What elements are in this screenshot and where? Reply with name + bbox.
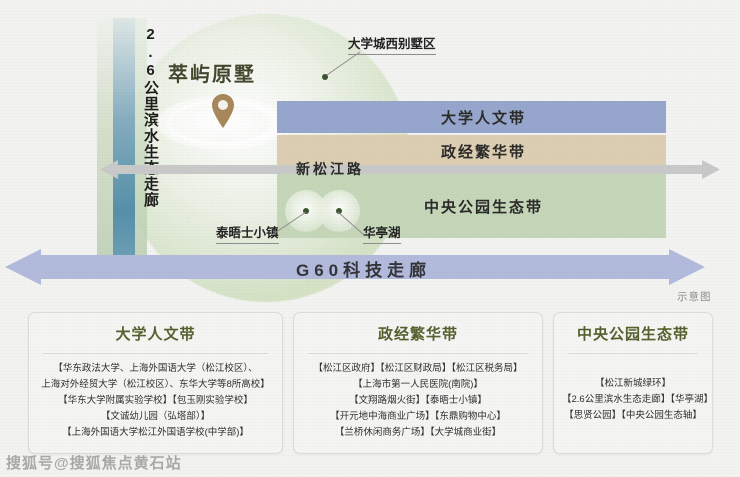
- card-university-culture-belt[interactable]: 大学人文带 【华东政法大学、上海外国语大学（松江校区）、 上海对外经贸大学（松江…: [28, 312, 283, 454]
- project-name-label: 萃屿原墅: [168, 58, 256, 87]
- card-line: 【华东大学附属实验学校】【包玉刚实验学校】: [37, 393, 274, 409]
- corridor-strip-water: [113, 18, 135, 276]
- callout-villa-dot: [322, 74, 328, 80]
- card-line: 【开元地中海商业广场】【东鼎购物中心】: [302, 409, 534, 425]
- band-university-culture: 大学人文带: [277, 101, 666, 133]
- card-line: 【华东政法大学、上海外国语大学（松江校区）、: [37, 361, 274, 377]
- card-line: 上海对外经贸大学（松江校区）、东华大学等8所高校】: [37, 377, 274, 393]
- card-body: 【华东政法大学、上海外国语大学（松江校区）、 上海对外经贸大学（松江校区）、东华…: [29, 354, 282, 441]
- card-line: 【上海外国语大学松江外国语学校(中学部)】: [37, 425, 274, 441]
- page-root: 2.6公里滨水生态走廊 萃屿原墅 大学人文带 政经繁华带 中央公园生态带 新松江…: [0, 0, 740, 477]
- watermark-text: 搜狐号@搜狐焦点黄石站: [6, 452, 182, 473]
- map-pin-icon: [211, 94, 235, 128]
- card-body: 【松江区政府】【松江区财政局】【松江区税务局】 【上海市第一人民医院(南院)】 …: [294, 354, 542, 441]
- card-line: 【文诚幼儿园（弘塔部）】: [37, 409, 274, 425]
- corridor-vertical-label: 2.6公里滨水生态走廊: [135, 26, 161, 276]
- card-title: 大学人文带: [29, 313, 282, 353]
- card-line: 【松江区政府】【松江区财政局】【松江区税务局】: [302, 361, 534, 377]
- callout-thames-leader-line: [272, 210, 308, 236]
- road-label: 新松江路: [296, 159, 364, 179]
- road-arrow-shape: [100, 160, 720, 179]
- map-diagram: 2.6公里滨水生态走廊 萃屿原墅 大学人文带 政经繁华带 中央公园生态带 新松江…: [0, 0, 740, 310]
- band-central-park-eco-label: 中央公园生态带: [400, 196, 543, 217]
- card-central-park-eco-belt[interactable]: 中央公园生态带 【松江新城绿环】 【2.6公里滨水生态走廊】【华亭湖】 【思贤公…: [553, 312, 713, 454]
- corridor-strip-green-outer: [97, 18, 113, 276]
- card-line: 【兰桥休闲商务广场】【大学城商业街】: [302, 425, 534, 441]
- card-government-economy-belt[interactable]: 政经繁华带 【松江区政府】【松江区财政局】【松江区税务局】 【上海市第一人民医院…: [293, 312, 543, 454]
- g60-label: G60科技走廊: [296, 256, 431, 281]
- card-line: 【思贤公园】【中央公园生态轴】: [562, 408, 704, 424]
- callout-villa-leader-line: [322, 50, 362, 80]
- card-line: 【上海市第一人民医院(南院)】: [302, 377, 534, 393]
- band-government-economy-label: 政经繁华带: [417, 141, 526, 162]
- schematic-note: 示意图: [677, 289, 712, 304]
- band-university-culture-label: 大学人文带: [417, 107, 526, 128]
- callout-huating-lake-label: 华亭湖: [363, 222, 401, 244]
- card-line: 【2.6公里滨水生态走廊】【华亭湖】: [562, 392, 704, 408]
- card-body: 【松江新城绿环】 【2.6公里滨水生态走廊】【华亭湖】 【思贤公园】【中央公园生…: [554, 354, 712, 424]
- info-card-list: 大学人文带 【华东政法大学、上海外国语大学（松江校区）、 上海对外经贸大学（松江…: [0, 312, 740, 462]
- callout-huating-leader-line: [336, 210, 366, 236]
- card-line: 【文翔路烟火街】【泰晤士小镇】: [302, 393, 534, 409]
- card-title: 政经繁华带: [294, 313, 542, 353]
- card-title: 中央公园生态带: [554, 313, 712, 353]
- card-line: 【松江新城绿环】: [562, 376, 704, 392]
- callout-thames-town-label: 泰晤士小镇: [216, 222, 279, 244]
